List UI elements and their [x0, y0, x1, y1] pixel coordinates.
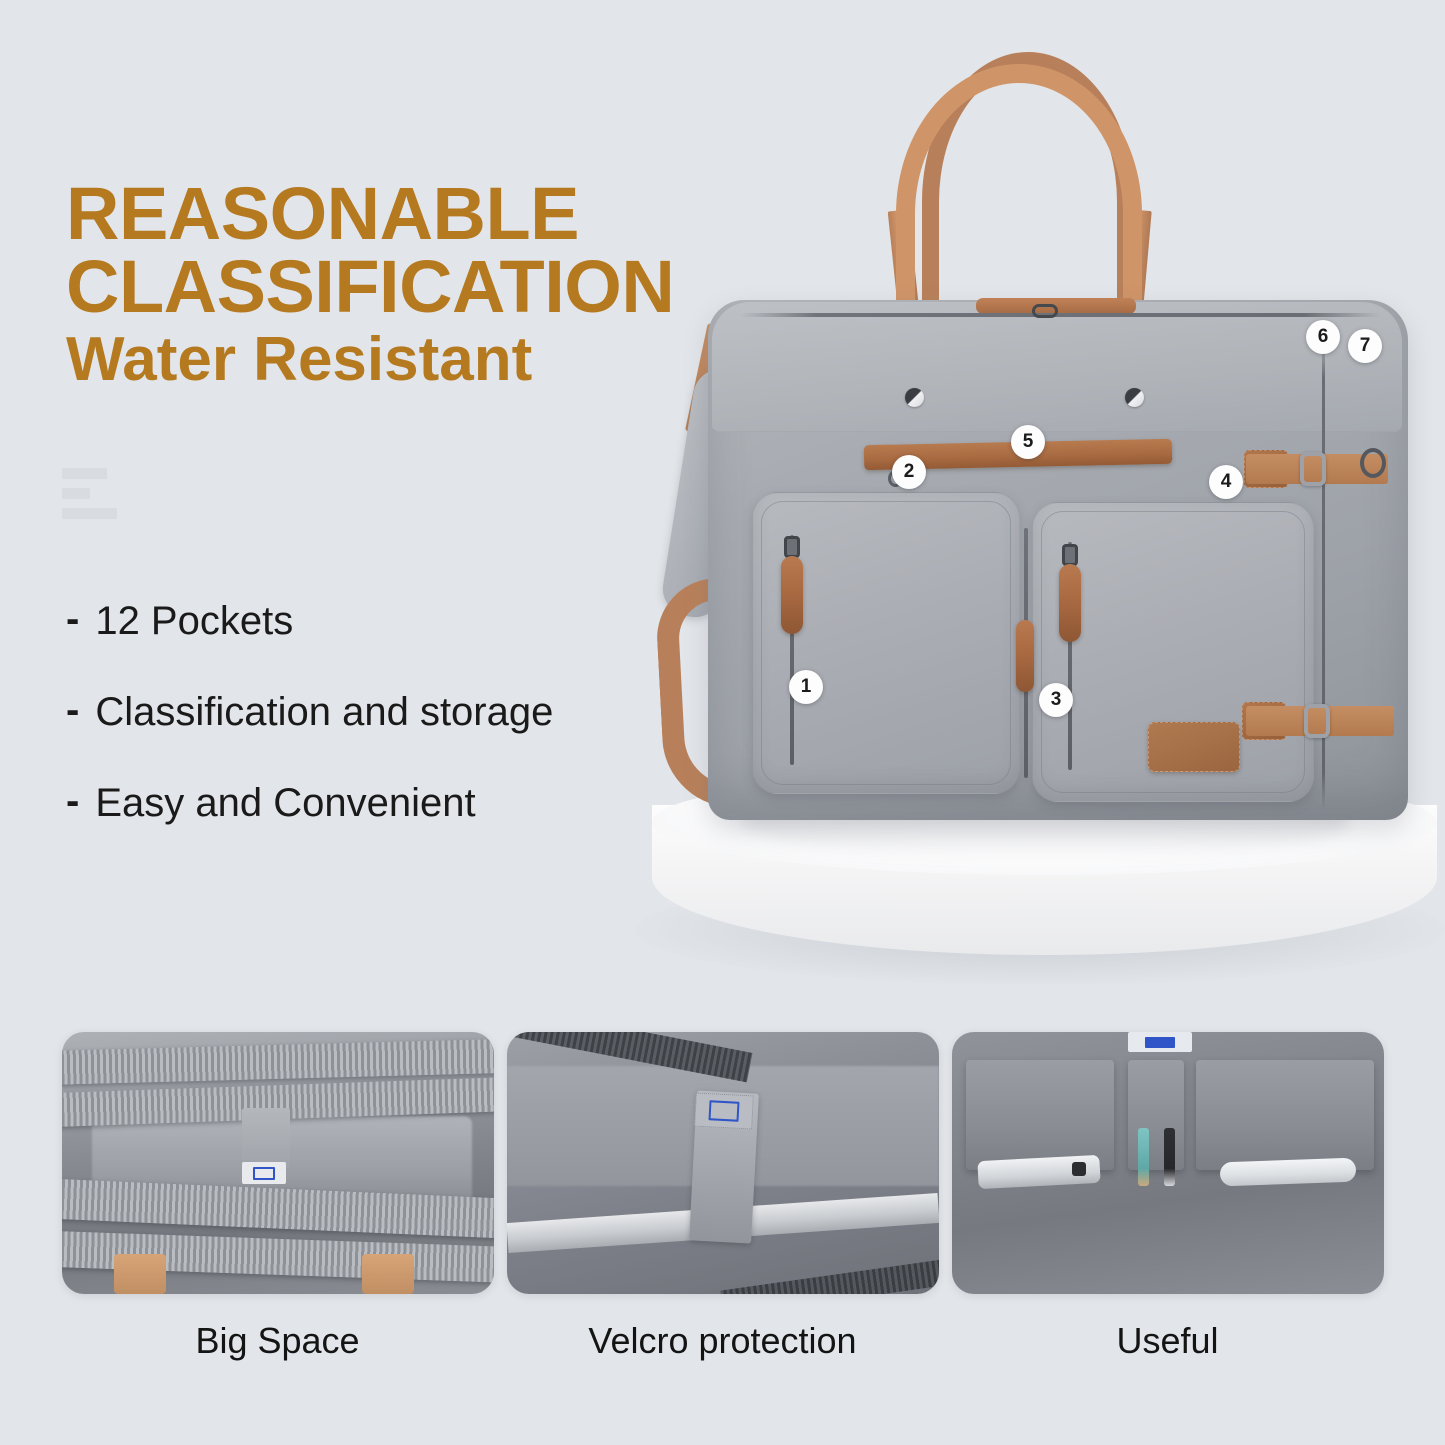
power-bank-item: [1219, 1158, 1356, 1187]
callout-badge-3[interactable]: 3: [1039, 683, 1073, 717]
decorative-bar: [62, 508, 117, 519]
top-zipper-slider-icon: [1032, 304, 1058, 318]
panel-caption-row: Big Space Velcro protection Useful: [0, 1320, 1445, 1362]
panel-caption-useful: Useful: [952, 1320, 1384, 1362]
headline-line-1: REASONABLE: [66, 178, 766, 251]
laptop-glyph-icon: [253, 1167, 275, 1180]
interior-pocket: [966, 1060, 1114, 1170]
callout-badge-6[interactable]: 6: [1306, 320, 1340, 354]
bullet-dash-icon: -: [66, 690, 79, 730]
headline-line-3: Water Resistant: [66, 329, 766, 391]
decorative-bars: [62, 468, 117, 528]
bag-handle-webbing: [362, 1254, 414, 1294]
decorative-bar: [62, 488, 90, 499]
snap-button-icon: [1125, 388, 1144, 407]
interior-pocket: [1196, 1060, 1374, 1170]
product-hero-image: [600, 30, 1445, 990]
center-zipper-pull: [1016, 620, 1034, 692]
phone-camera-icon: [1072, 1162, 1086, 1176]
laptop-tag-icon: [242, 1162, 286, 1184]
pen-slot: [1128, 1060, 1184, 1170]
brand-leather-patch: [1148, 722, 1240, 772]
laptop-glyph-icon: [708, 1100, 739, 1122]
decorative-bar: [62, 468, 107, 479]
detail-panel-big-space[interactable]: [62, 1032, 494, 1294]
laptop-tag-icon: [1128, 1032, 1192, 1052]
laptop-tag-icon: [694, 1093, 754, 1130]
side-zipper-line: [1322, 340, 1325, 810]
buckle-icon: [1300, 452, 1326, 486]
snap-button-icon: [905, 388, 924, 407]
bullet-dash-icon: -: [66, 781, 79, 821]
feature-list: - 12 Pockets - Classification and storag…: [66, 597, 626, 869]
panel-caption-big-space: Big Space: [62, 1320, 494, 1362]
buckle-icon: [1304, 704, 1330, 738]
feature-item: - Classification and storage: [66, 688, 626, 737]
right-pocket-zipper-pull: [1059, 564, 1081, 642]
feature-label: Classification and storage: [95, 688, 553, 737]
zipper-slider-icon: [1062, 544, 1078, 566]
bag-top-flap: [712, 302, 1402, 432]
callout-badge-1[interactable]: 1: [789, 670, 823, 704]
left-pocket-zipper-pull: [781, 556, 803, 634]
velcro-strap: [242, 1108, 290, 1168]
bag-handle-webbing: [114, 1254, 166, 1294]
d-ring-icon: [1360, 448, 1386, 478]
panel-caption-velcro: Velcro protection: [507, 1320, 939, 1362]
zipper-slider-icon: [784, 536, 800, 558]
detail-panel-velcro[interactable]: [507, 1032, 939, 1294]
top-zipper-line: [740, 313, 1380, 317]
detail-panel-row: [0, 1032, 1445, 1294]
callout-badge-2[interactable]: 2: [892, 455, 926, 489]
callout-badge-4[interactable]: 4: [1209, 465, 1243, 499]
detail-panels: Big Space Velcro protection Useful: [0, 1032, 1445, 1362]
feature-label: Easy and Convenient: [95, 779, 475, 828]
stylus-item: [1164, 1128, 1175, 1186]
feature-item: - 12 Pockets: [66, 597, 626, 646]
headline-line-2: CLASSIFICATION: [66, 251, 766, 324]
pen-item: [1138, 1128, 1149, 1186]
feature-label: 12 Pockets: [95, 597, 293, 646]
laptop-glyph-icon: [1145, 1037, 1175, 1048]
bullet-dash-icon: -: [66, 599, 79, 639]
callout-badge-5[interactable]: 5: [1011, 425, 1045, 459]
callout-badge-7[interactable]: 7: [1348, 329, 1382, 363]
headline-block: REASONABLE CLASSIFICATION Water Resistan…: [66, 178, 766, 391]
detail-panel-useful[interactable]: [952, 1032, 1384, 1294]
feature-item: - Easy and Convenient: [66, 779, 626, 828]
